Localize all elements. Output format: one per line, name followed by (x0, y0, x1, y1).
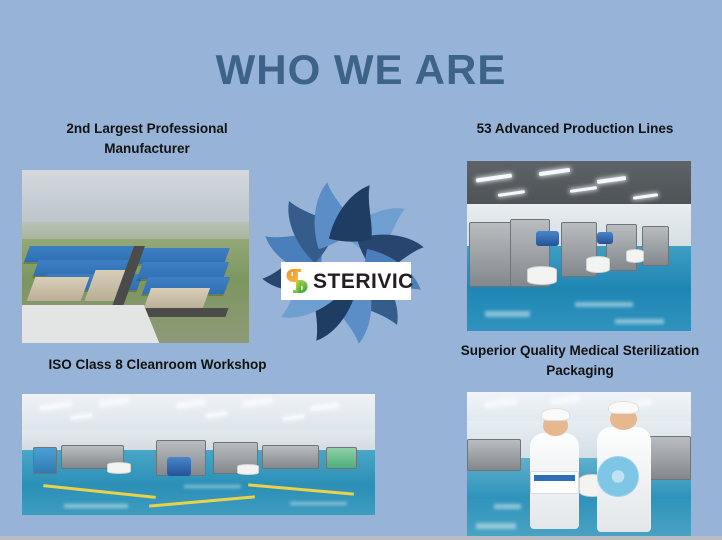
slide-canvas: WHO WE ARE 2nd Largest Professional Manu… (0, 0, 722, 540)
caption-top-left: 2nd Largest Professional Manufacturer (22, 119, 272, 158)
caption-bottom-left: ISO Class 8 Cleanroom Workshop (10, 355, 305, 375)
bottom-strip (0, 536, 722, 540)
page-title: WHO WE ARE (0, 48, 722, 92)
sterivic-logo-text: STERIVIC (313, 271, 414, 292)
cleanroom-workshop-photo (22, 394, 375, 515)
aerial-factory-photo (22, 170, 249, 343)
caption-top-right: 53 Advanced Production Lines (440, 119, 710, 139)
caption-bottom-right: Superior Quality Medical Sterilization P… (455, 341, 705, 380)
sterivic-logo: STERIVIC (281, 262, 411, 300)
workers-holding-products-photo (467, 392, 691, 538)
sterivic-logo-mark (286, 268, 308, 294)
production-lines-photo (467, 161, 691, 331)
